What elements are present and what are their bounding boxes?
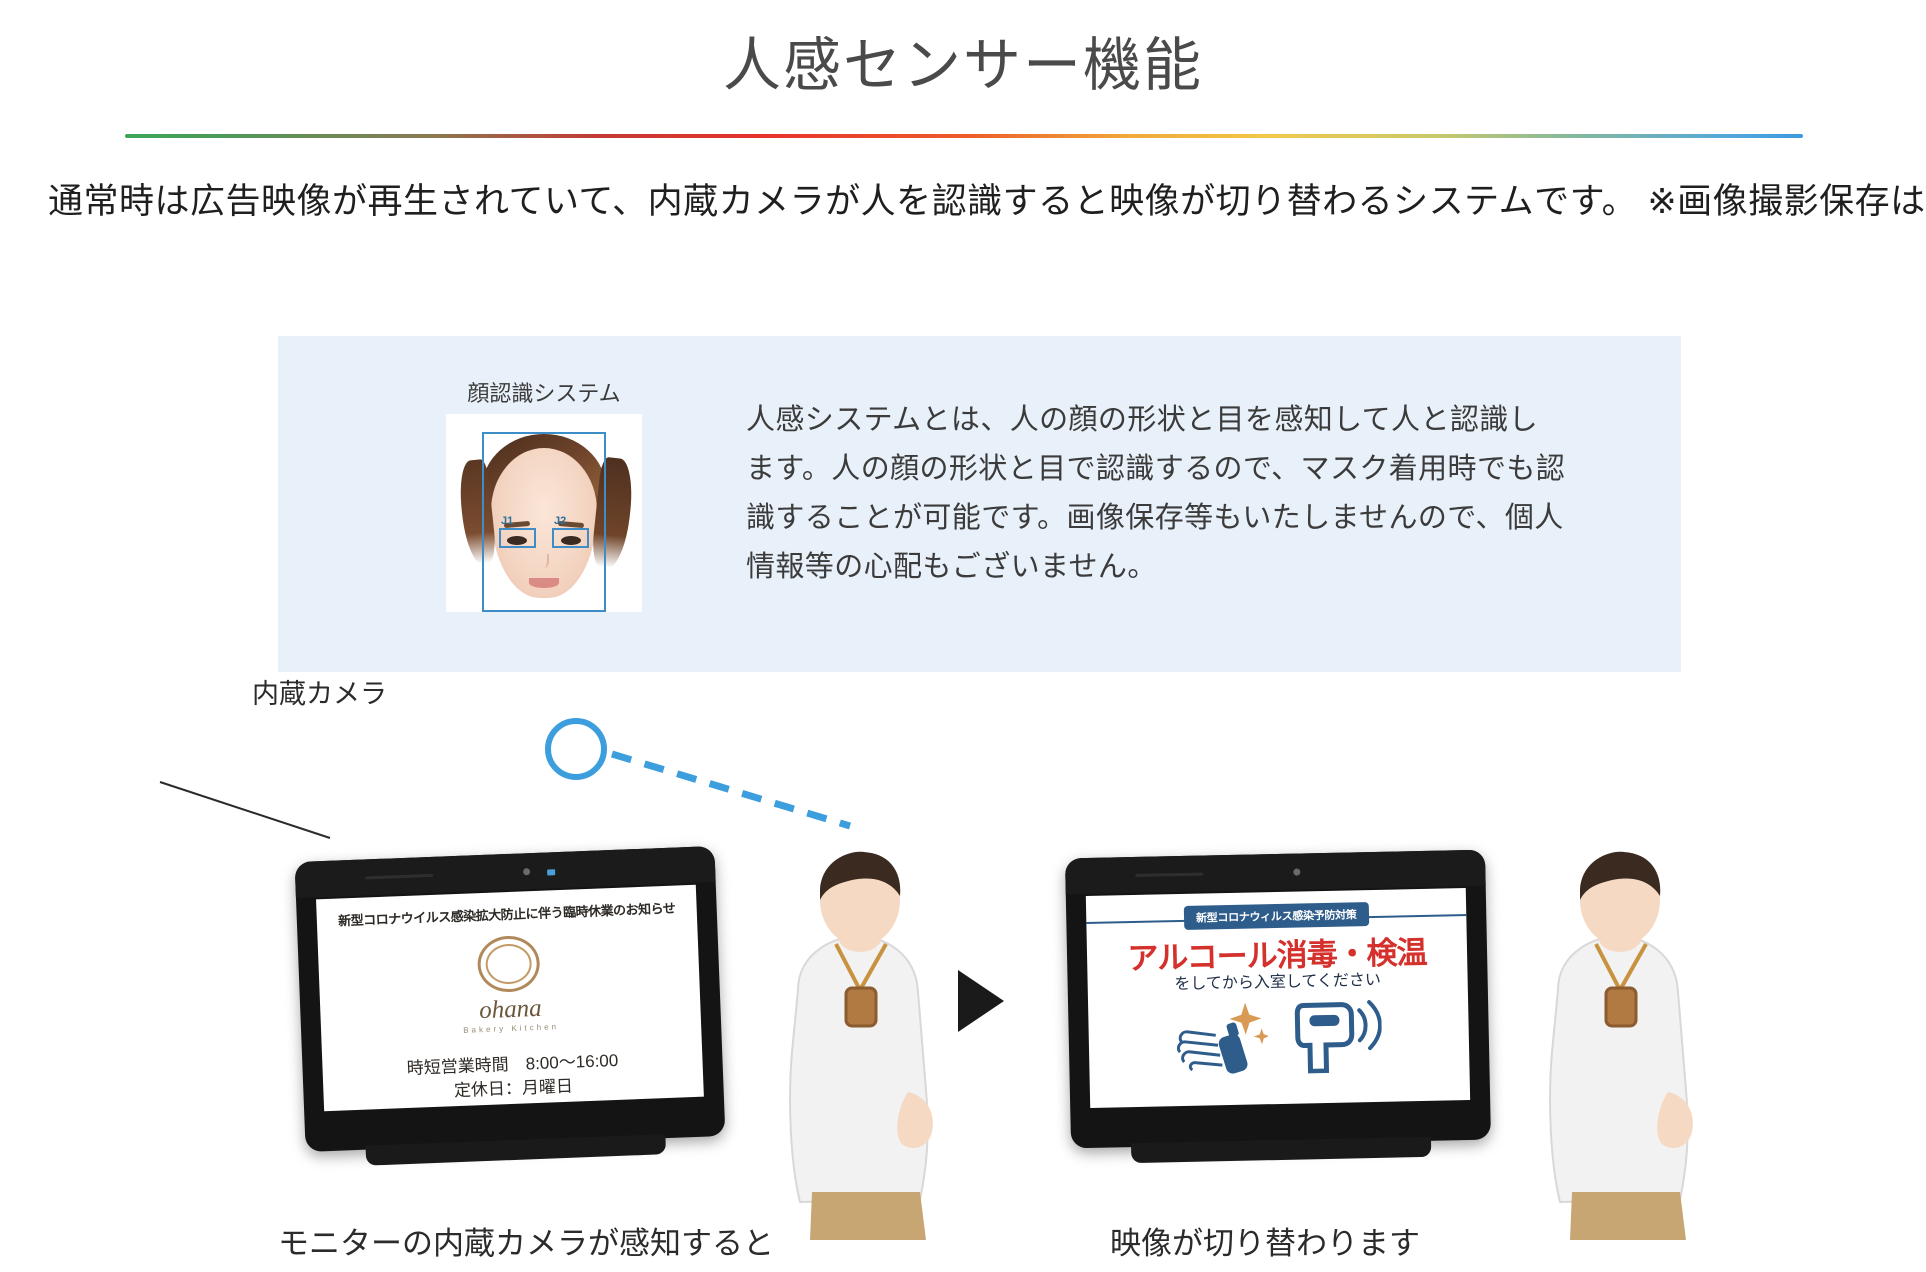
monitor-left-stand	[366, 1134, 667, 1166]
monitor-right: 新型コロナウィルス感染予防対策 アルコール消毒・検温 をしてから入室してください	[1065, 850, 1491, 1149]
info-panel: 顔認識システム J1 J2 人感システムとは、人の顔の形状と目を感知して人と認識…	[278, 336, 1681, 672]
page-subtitle: 通常時は広告映像が再生されていて、内蔵カメラが人を認識すると映像が切り替わるシス…	[48, 173, 1886, 224]
sensor-flow-diagram: 新型コロナウイルス感染拡大防止に伴う臨時休業のお知らせ ohana Bakery…	[0, 760, 1926, 1272]
page-title: 人感センサー機能	[0, 18, 1926, 102]
eye-detection-box-left: J1	[499, 528, 536, 548]
thermometer-gun-icon	[1293, 994, 1383, 1074]
monitor-right-bezel	[1065, 850, 1486, 895]
face-recognition-caption: 顔認識システム	[444, 376, 644, 408]
person-right	[1500, 840, 1730, 1240]
info-panel-body-text: 人感システムとは、人の顔の形状と目を感知して人と認識します。人の顔の形状と目で認…	[746, 396, 1566, 592]
caption-right: 映像が切り替わります	[1110, 1218, 1420, 1263]
speaker-grille-icon	[365, 874, 433, 880]
builtin-camera-icon	[1293, 869, 1300, 876]
right-screen-icon-row	[1088, 992, 1470, 1078]
monitor-right-screen: 新型コロナウィルス感染予防対策 アルコール消毒・検温 をしてから入室してください	[1086, 888, 1470, 1108]
gradient-divider	[125, 134, 1803, 138]
camera-led-icon	[547, 869, 555, 875]
flow-arrow-icon	[958, 970, 1004, 1032]
eye-detection-label-left: J1	[501, 515, 513, 527]
face-photo: J1 J2	[446, 414, 642, 612]
caption-left: モニターの内蔵カメラが感知すると	[278, 1218, 774, 1263]
camera-highlight-circle	[545, 718, 607, 780]
eye-detection-label-right: J2	[554, 515, 566, 527]
camera-callout-label: 内蔵カメラ	[252, 672, 387, 711]
monitor-right-stand	[1131, 1137, 1431, 1163]
builtin-camera-icon	[523, 868, 530, 875]
face-recognition-block: 顔認識システム J1 J2	[444, 376, 644, 612]
hand-sanitizer-icon	[1175, 996, 1269, 1076]
speaker-grille-icon	[1135, 873, 1203, 877]
right-screen-badge: 新型コロナウィルス感染予防対策	[1184, 902, 1369, 930]
person-left	[740, 840, 970, 1240]
eye-detection-box-right: J2	[552, 528, 589, 548]
ohana-logo-icon	[477, 935, 541, 993]
